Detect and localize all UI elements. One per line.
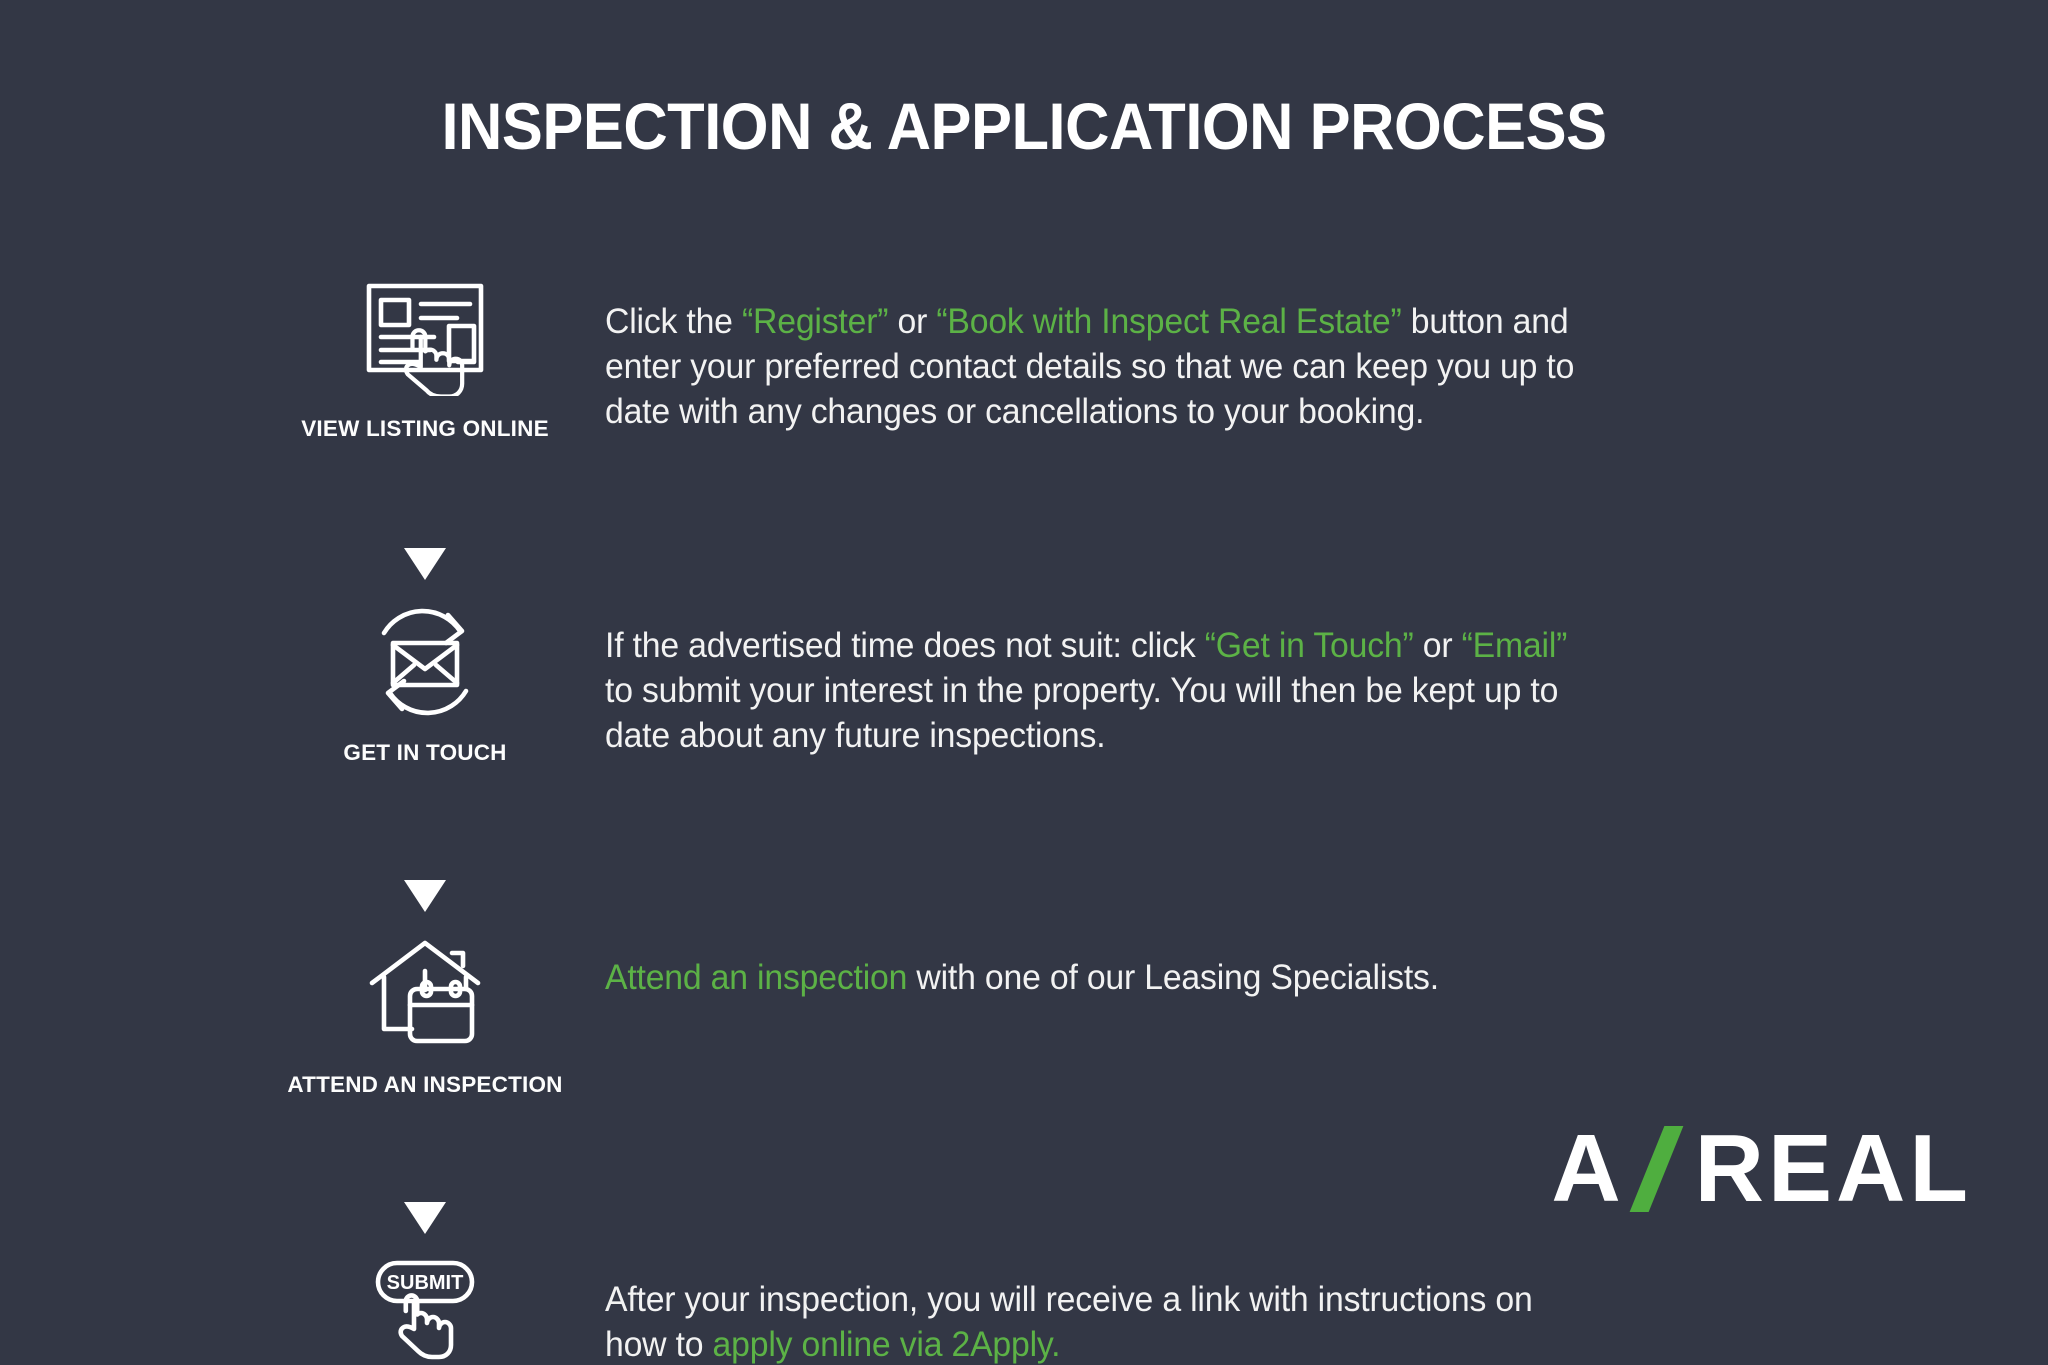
submit-button-pointer-icon: SUBMIT (280, 1256, 570, 1365)
step-1-icon-column: VIEW LISTING ONLINE (280, 278, 570, 442)
step-3-text-part-0: Attend an inspection (605, 958, 907, 997)
brand-logo: A REAL (1551, 1121, 1972, 1217)
step-1-text-part-3: “Book with Inspect Real Estate” (936, 302, 1401, 341)
step-2-label: GET IN TOUCH (280, 740, 570, 766)
step-3-text-part-1: with one of our Leasing Specialists. (907, 958, 1439, 997)
step-2-text-part-4: to submit your interest in the property.… (605, 671, 1558, 755)
envelope-refresh-icon (280, 602, 570, 722)
house-calendar-icon (280, 934, 570, 1054)
step-2-text-part-3: “Email” (1462, 626, 1568, 665)
listing-window-pointer-icon (280, 278, 570, 398)
step-1-text: Click the “Register” or “Book with Inspe… (605, 300, 1580, 434)
step-1-text-part-1: “Register” (742, 302, 888, 341)
step-2-text-part-1: “Get in Touch” (1205, 626, 1414, 665)
step-2-text-part-0: If the advertised time does not suit: cl… (605, 626, 1205, 665)
step-2-text-part-2: or (1414, 626, 1462, 665)
step-4-icon-column: SUBMIT APPLY ONLINE (280, 1256, 570, 1365)
logo-word-real: REAL (1695, 1121, 1972, 1217)
step-2-icon-column: GET IN TOUCH (280, 602, 570, 766)
logo-slash-icon (1635, 1126, 1689, 1212)
process-step-view-listing-online: VIEW LISTING ONLINE Click the “Register”… (0, 278, 2048, 528)
flow-arrow-1-triangle (404, 548, 446, 580)
flow-arrow-2-triangle (404, 880, 446, 912)
step-3-label: ATTEND AN INSPECTION (280, 1072, 570, 1098)
step-1-text-part-2: or (888, 302, 936, 341)
step-3-text: Attend an inspection with one of our Lea… (605, 956, 1580, 1001)
process-step-get-in-touch: GET IN TOUCH If the advertised time does… (0, 602, 2048, 852)
step-3-icon-column: ATTEND AN INSPECTION (280, 934, 570, 1098)
step-1-text-part-0: Click the (605, 302, 742, 341)
page-title: INSPECTION & APPLICATION PROCESS (72, 88, 1977, 164)
step-4-text-part-1: apply online via 2Apply. (713, 1325, 1061, 1364)
flow-arrow-3 (280, 1202, 570, 1234)
flow-arrow-1 (280, 548, 570, 580)
flow-arrow-3-triangle (404, 1202, 446, 1234)
logo-letter-a: A (1551, 1121, 1624, 1217)
process-step-apply-online: SUBMIT APPLY ONLINE After your inspectio… (0, 1256, 2048, 1365)
submit-button-label: SUBMIT (387, 1272, 464, 1294)
flow-arrow-2 (280, 880, 570, 912)
step-2-text: If the advertised time does not suit: cl… (605, 624, 1580, 758)
step-4-text: After your inspection, you will receive … (605, 1278, 1580, 1365)
step-1-label: VIEW LISTING ONLINE (280, 416, 570, 442)
